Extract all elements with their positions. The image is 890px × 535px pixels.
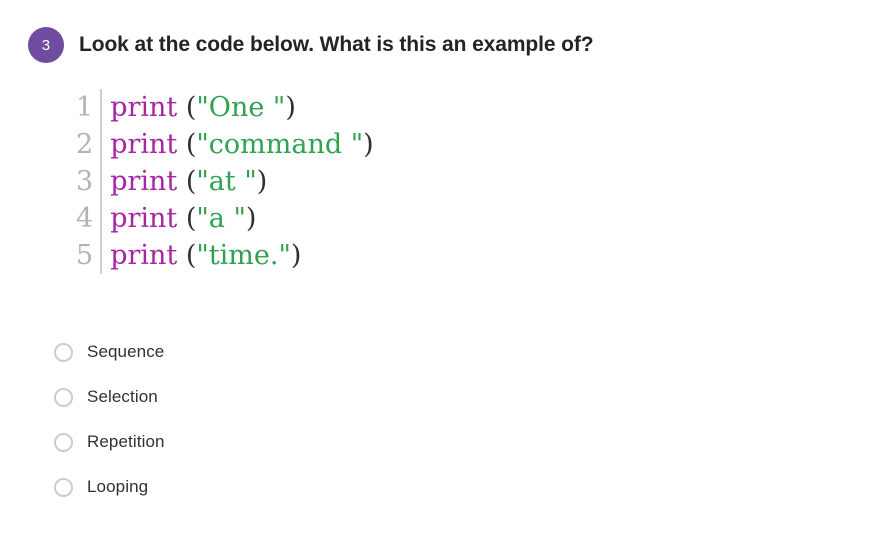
code-line: print ("command ") (110, 126, 374, 163)
answer-option-label: Looping (87, 474, 148, 500)
answer-options-list: SequenceSelectionRepetitionLooping (54, 339, 165, 519)
answer-option-label: Sequence (87, 339, 164, 365)
code-token-string: "time." (196, 240, 291, 271)
question-number-badge: 3 (28, 27, 64, 63)
code-line-number: 4 (76, 200, 93, 237)
code-line: print ("One ") (110, 89, 374, 126)
radio-button-icon[interactable] (54, 478, 73, 497)
radio-button-icon[interactable] (54, 343, 73, 362)
code-token-string: "at " (196, 166, 256, 197)
code-line: print ("time.") (110, 237, 374, 274)
code-token-string: "One " (196, 92, 285, 123)
code-token-string: "command " (196, 129, 363, 160)
code-line-number: 5 (76, 237, 93, 274)
code-token-keyword: print (110, 92, 177, 123)
answer-option-selection[interactable]: Selection (54, 384, 165, 410)
answer-option-label: Selection (87, 384, 158, 410)
code-token-open-paren: ( (177, 203, 196, 234)
code-token-close-paren: ) (285, 92, 296, 123)
code-token-close-paren: ) (246, 203, 257, 234)
code-token-open-paren: ( (177, 92, 196, 123)
code-token-keyword: print (110, 166, 177, 197)
code-block: 12345 print ("One ")print ("command ")pr… (76, 89, 374, 274)
radio-button-icon[interactable] (54, 388, 73, 407)
radio-button-icon[interactable] (54, 433, 73, 452)
answer-option-label: Repetition (87, 429, 165, 455)
code-line-number: 3 (76, 163, 93, 200)
code-token-close-paren: ) (363, 129, 374, 160)
code-token-open-paren: ( (177, 240, 196, 271)
code-token-keyword: print (110, 203, 177, 234)
answer-option-repetition[interactable]: Repetition (54, 429, 165, 455)
code-token-open-paren: ( (177, 166, 196, 197)
code-token-close-paren: ) (257, 166, 268, 197)
code-line: print ("at ") (110, 163, 374, 200)
question-title: Look at the code below. What is this an … (79, 27, 594, 63)
code-token-close-paren: ) (291, 240, 302, 271)
code-token-open-paren: ( (177, 129, 196, 160)
code-line-number: 2 (76, 126, 93, 163)
code-line-numbers: 12345 (76, 89, 102, 274)
answer-option-sequence[interactable]: Sequence (54, 339, 165, 365)
answer-option-looping[interactable]: Looping (54, 474, 165, 500)
question-header: 3 Look at the code below. What is this a… (28, 27, 594, 63)
code-line: print ("a ") (110, 200, 374, 237)
code-content: print ("One ")print ("command ")print ("… (102, 89, 374, 274)
code-line-number: 1 (76, 89, 93, 126)
code-token-keyword: print (110, 129, 177, 160)
code-token-keyword: print (110, 240, 177, 271)
code-token-string: "a " (196, 203, 246, 234)
